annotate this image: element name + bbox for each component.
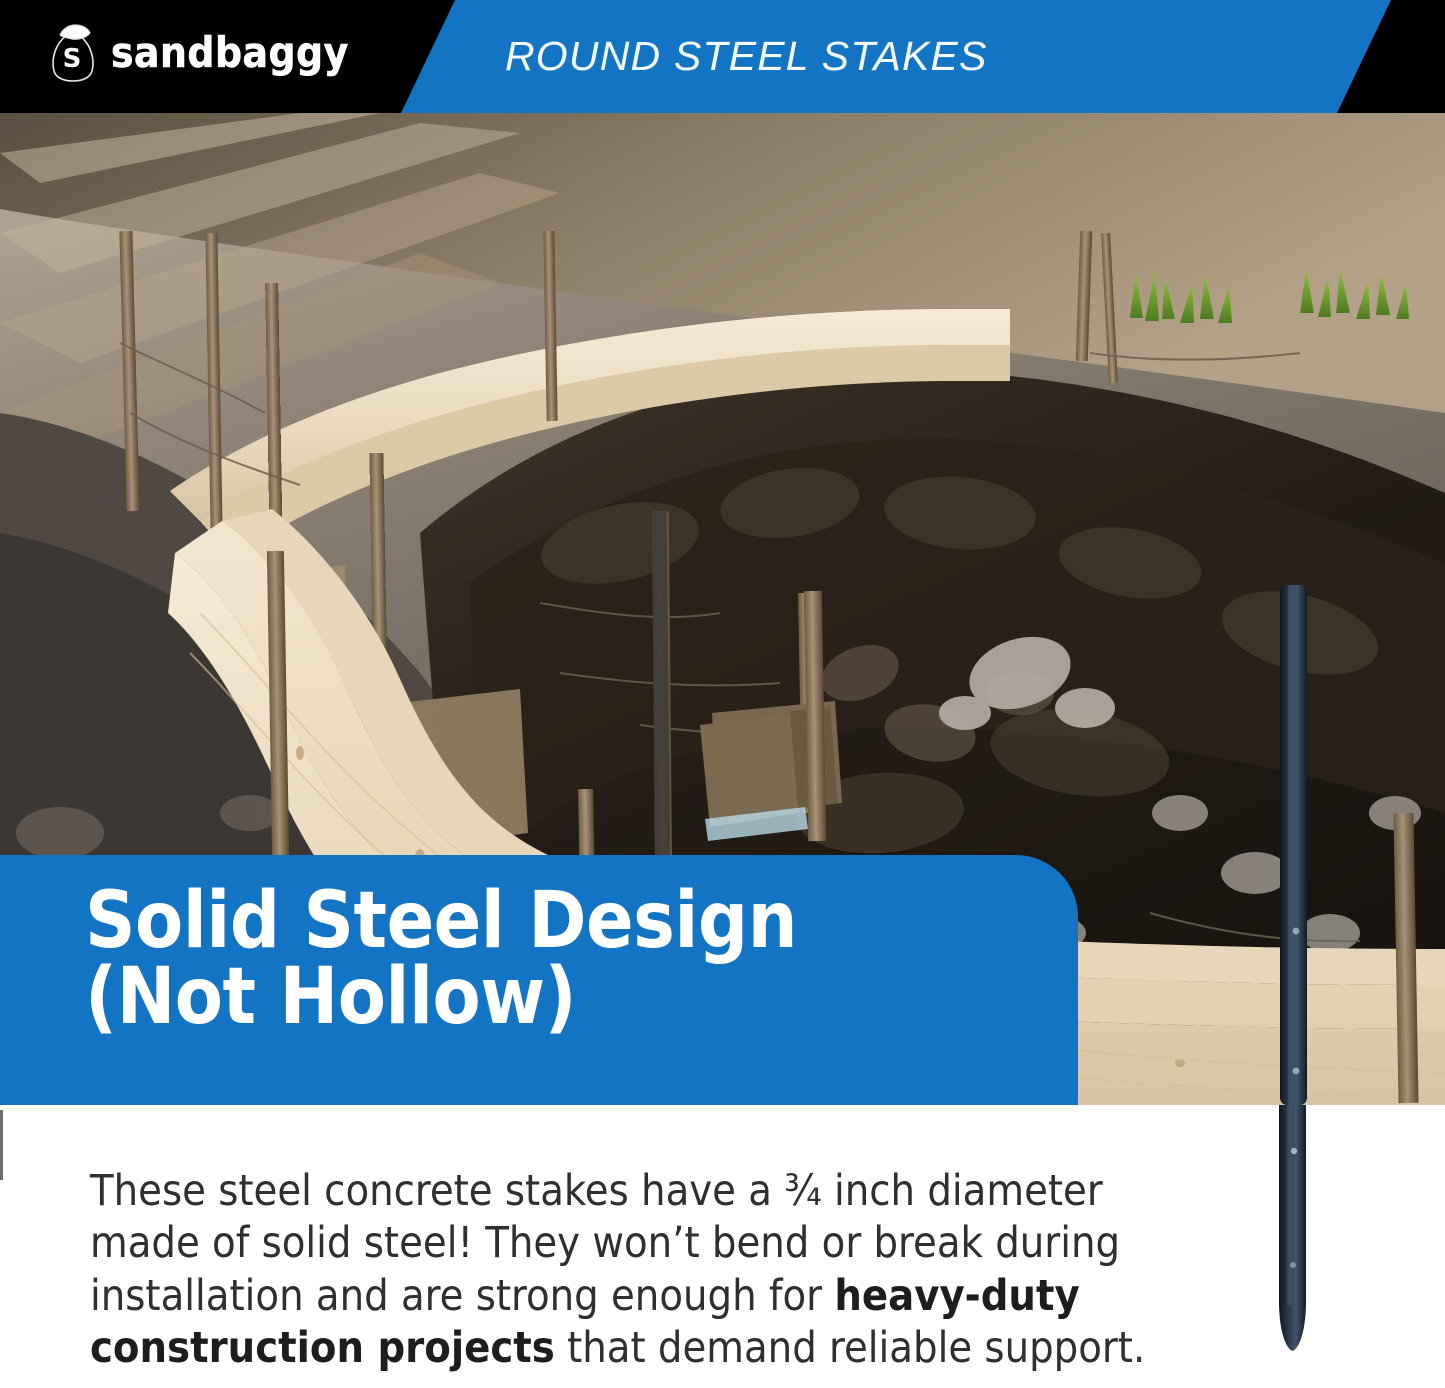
page-header: S sandbaggy ROUND STEEL STAKES	[0, 0, 1445, 113]
headline-panel: Solid Steel Design (Not Hollow)	[0, 855, 1078, 1105]
header-tagline: ROUND STEEL STAKES	[505, 33, 988, 80]
description-part-3: that demand reliable support.	[555, 1323, 1145, 1373]
brand-logo[interactable]: S sandbaggy	[46, 22, 349, 84]
brand-wordmark: sandbaggy	[111, 32, 349, 74]
description-text: These steel concrete stakes have a ¾ inc…	[90, 1165, 1160, 1375]
left-edge-marker	[0, 1110, 3, 1180]
description-section: These steel concrete stakes have a ¾ inc…	[0, 1105, 1445, 1388]
headline-line-2: (Not Hollow)	[85, 959, 1065, 1035]
svg-text:S: S	[63, 44, 82, 74]
steel-stake-tip	[1278, 1105, 1308, 1353]
page-title: Solid Steel Design (Not Hollow)	[85, 883, 1065, 1036]
sandbag-icon: S	[46, 22, 100, 84]
